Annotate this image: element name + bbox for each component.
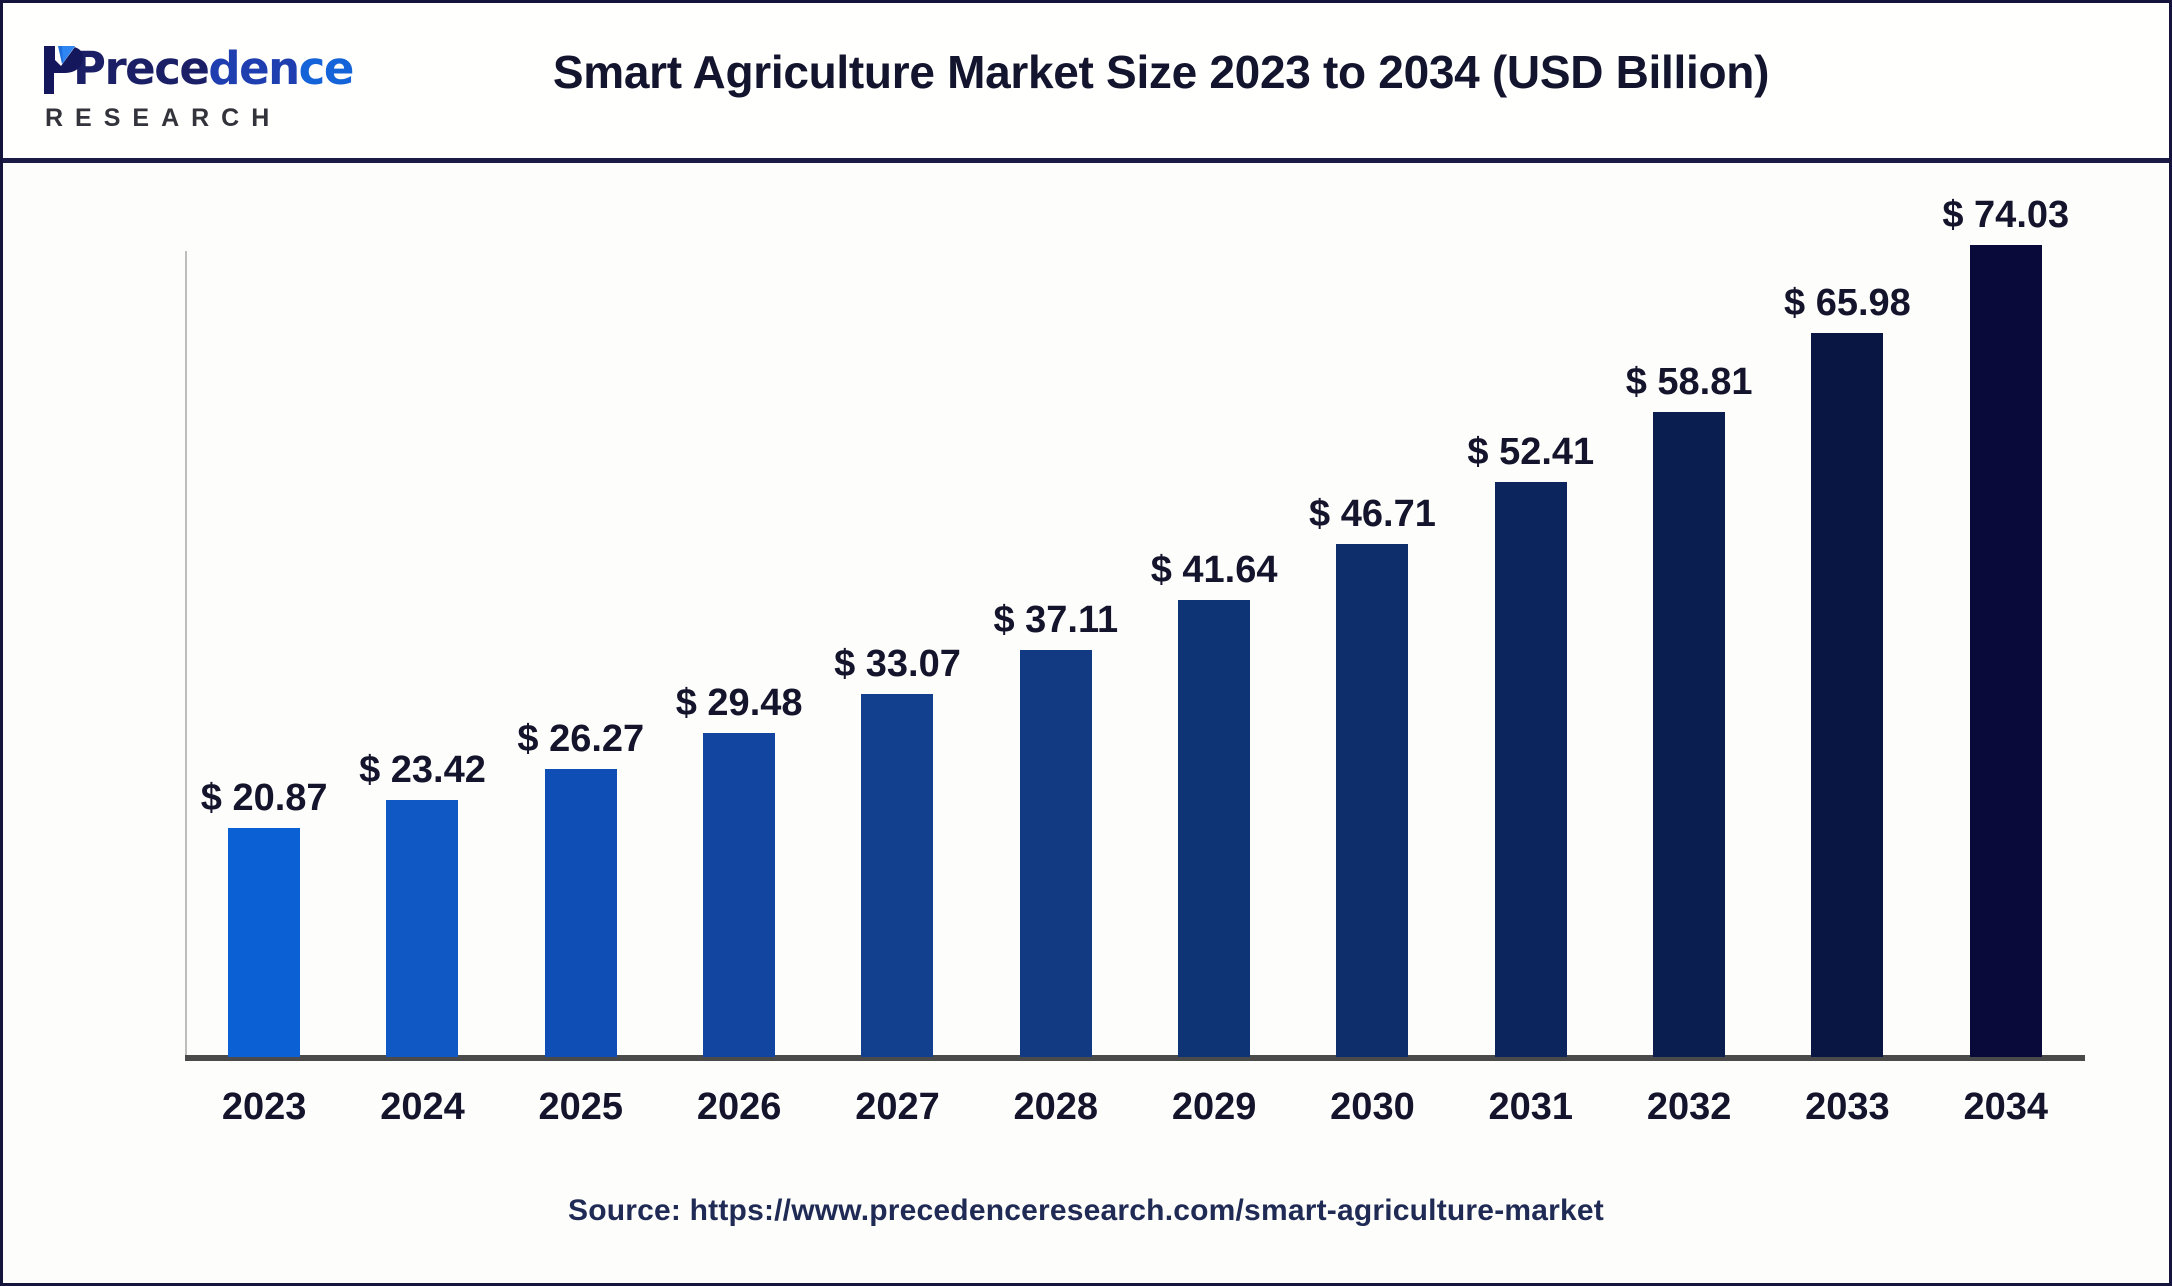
- bar-column: $ 52.41: [1452, 201, 1610, 1057]
- bar-column: $ 58.81: [1610, 201, 1768, 1057]
- x-axis-tick-label: 2029: [1135, 1086, 1293, 1129]
- bar: [703, 733, 775, 1057]
- bar-column: $ 65.98: [1768, 201, 1926, 1057]
- x-axis-tick-labels: 2023202420252026202720282029203020312032…: [185, 1086, 2085, 1129]
- bar-column: $ 26.27: [502, 201, 660, 1057]
- source-caption: Source: https://www.precedenceresearch.c…: [3, 1194, 2169, 1228]
- x-axis-tick-label: 2031: [1452, 1086, 1610, 1129]
- bar: [861, 694, 933, 1057]
- x-axis-tick-label: 2027: [818, 1086, 976, 1129]
- bar-series: $ 20.87$ 23.42$ 26.27$ 29.48$ 33.07$ 37.…: [185, 201, 2085, 1057]
- bar-column: $ 41.64: [1135, 201, 1293, 1057]
- logo-subtitle: RESEARCH: [45, 104, 361, 133]
- x-axis-tick-label: 2032: [1610, 1086, 1768, 1129]
- bar: [545, 769, 617, 1057]
- bar: [1970, 245, 2042, 1057]
- x-axis-tick-label: 2023: [185, 1086, 343, 1129]
- bar-column: $ 23.42: [343, 201, 501, 1057]
- chart-header: Precedence RESEARCH Smart Agriculture Ma…: [3, 3, 2169, 163]
- x-axis-tick-label: 2026: [660, 1086, 818, 1129]
- bar-column: $ 20.87: [185, 201, 343, 1057]
- bar-column: $ 37.11: [977, 201, 1135, 1057]
- bar-column: $ 74.03: [1927, 201, 2085, 1057]
- x-axis-tick-label: 2024: [343, 1086, 501, 1129]
- chart-card: Precedence RESEARCH Smart Agriculture Ma…: [0, 0, 2172, 1286]
- bar-column: $ 46.71: [1293, 201, 1451, 1057]
- x-axis-tick-label: 2025: [502, 1086, 660, 1129]
- page-title: Smart Agriculture Market Size 2023 to 20…: [3, 45, 2169, 99]
- x-axis-tick-label: 2033: [1768, 1086, 1926, 1129]
- bar: [1653, 412, 1725, 1057]
- bar-value-label: $ 74.03: [1876, 194, 2136, 237]
- x-axis-tick-label: 2034: [1927, 1086, 2085, 1129]
- bar: [1495, 482, 1567, 1057]
- bar: [1811, 333, 1883, 1057]
- bar: [1336, 544, 1408, 1057]
- x-axis-tick-label: 2030: [1293, 1086, 1451, 1129]
- bar-column: $ 29.48: [660, 201, 818, 1057]
- chart-plot-area: $ 20.87$ 23.42$ 26.27$ 29.48$ 33.07$ 37.…: [3, 166, 2169, 1283]
- bar: [1178, 600, 1250, 1057]
- x-axis-tick-label: 2028: [977, 1086, 1135, 1129]
- bar: [386, 800, 458, 1057]
- bar: [228, 828, 300, 1057]
- bar: [1020, 650, 1092, 1057]
